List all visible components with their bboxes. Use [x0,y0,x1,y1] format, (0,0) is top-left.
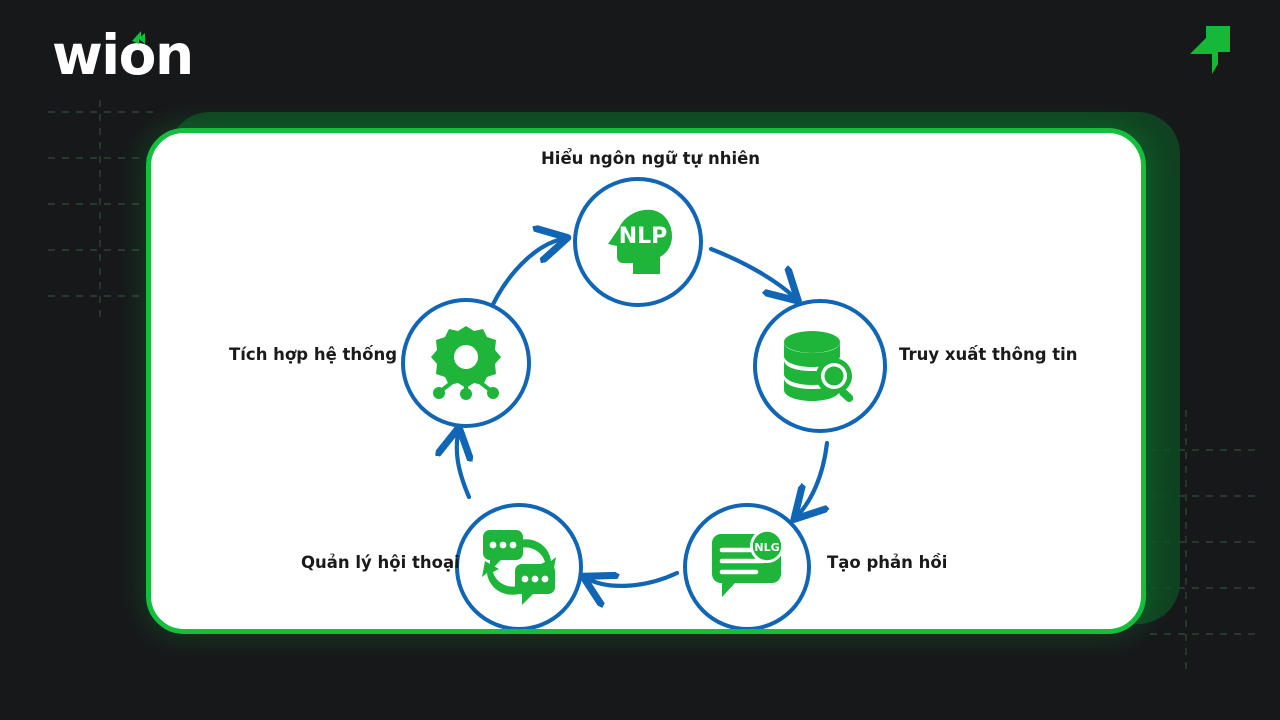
nlp-cycle-diagram: NLP Hiểu ngôn ngữ tự nhiên Truy xuất thô… [151,133,1146,634]
arrow-nlp-to-retrieval [711,249,794,297]
speech-bubble-nlg-icon: NLG [706,529,788,605]
screenshot-root: wion [0,0,1280,720]
database-search-icon [777,326,863,406]
node-nlg[interactable]: NLG [683,503,811,631]
arrow-dialog-to-integrate [457,433,469,497]
label-dialog: Quản lý hội thoại [301,553,460,572]
arrow-up-right-icon [1188,24,1232,76]
diagram-card: NLP Hiểu ngôn ngữ tự nhiên Truy xuất thô… [146,128,1146,634]
chat-exchange-icon [477,527,561,607]
arrow-retrieval-to-nlg [798,443,827,515]
gear-network-icon [425,322,507,404]
arrow-integrate-to-nlp [488,239,562,315]
label-integrate: Tích hợp hệ thống [229,345,397,364]
brand-wordmark: wion [52,24,193,86]
label-nlp: Hiểu ngôn ngữ tự nhiên [541,149,760,168]
svg-text:NLG: NLG [754,541,779,554]
arrow-nlg-to-dialog [588,573,677,586]
arrow-accent-icon [130,30,146,50]
brand-logo: wion [52,24,252,86]
label-nlg: Tạo phản hồi [827,553,947,572]
node-retrieval[interactable] [753,299,887,433]
node-integrate[interactable] [401,298,531,428]
background-grid-left [30,100,160,320]
label-retrieval: Truy xuất thông tin [899,345,1078,364]
node-dialog[interactable] [455,503,583,631]
head-nlp-icon: NLP [596,200,680,284]
svg-text:NLP: NLP [619,224,668,249]
node-nlp[interactable]: NLP [573,177,703,307]
